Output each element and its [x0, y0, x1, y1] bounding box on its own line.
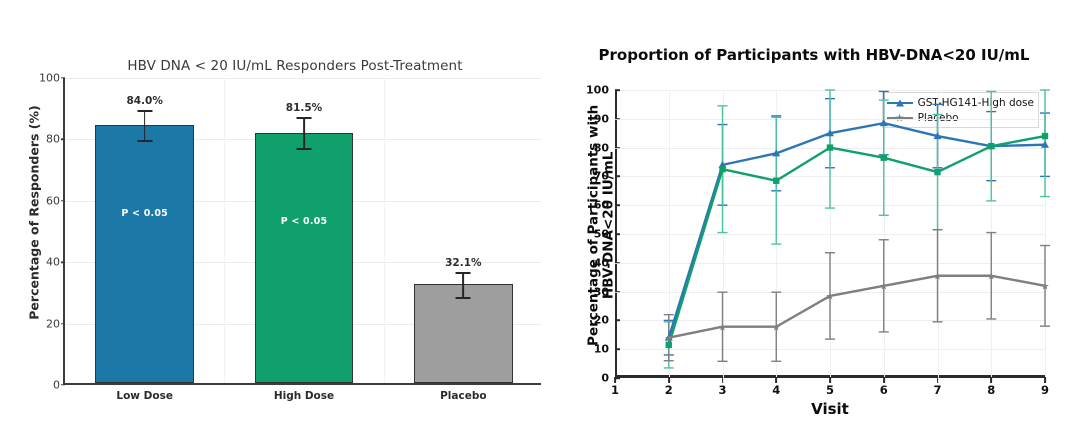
bar-chart-error-bar-cap — [296, 117, 311, 119]
line-chart-data-point[interactable] — [988, 143, 994, 149]
line-chart-y-tick-label: 80 — [594, 141, 609, 154]
bar-chart-bar[interactable] — [414, 284, 513, 383]
bar-chart-pvalue-annotation: P < 0.05 — [234, 216, 374, 227]
line-chart-y-tick-label: 40 — [594, 256, 609, 269]
line-chart-data-point[interactable]: ★ — [772, 322, 781, 333]
line-chart-x-axis-label: Visit — [615, 400, 1045, 418]
line-chart-data-point[interactable]: ★ — [664, 333, 673, 344]
line-chart-data-point[interactable]: ★ — [987, 271, 996, 282]
bar-chart-plot-area: 02040608010084.0%P < 0.05Low Dose81.5%P … — [63, 78, 541, 385]
bar-chart-error-bar-cap — [137, 110, 152, 112]
bar-chart-error-bar — [144, 110, 146, 141]
bar-chart-y-tick-label: 0 — [53, 379, 60, 392]
line-chart-series-line[interactable] — [669, 123, 1045, 338]
line-chart-data-point[interactable] — [773, 178, 779, 184]
line-chart-panel: Proportion of Participants with HBV-DNA<… — [545, 0, 1073, 435]
bar-chart-title: HBV DNA < 20 IU/mL Responders Post-Treat… — [60, 58, 530, 74]
bar-chart-bar-group[interactable]: 32.1%Placebo — [414, 76, 513, 383]
line-chart-data-point[interactable] — [1042, 133, 1048, 139]
bar-chart-error-bar-cap — [456, 272, 471, 274]
bar-chart-x-tick-label: Low Dose — [65, 390, 225, 402]
line-chart-plot-area: Visit GST-HG141-High dose★Placebo 010203… — [615, 90, 1045, 378]
line-chart-data-point[interactable] — [827, 144, 833, 150]
bar-chart-y-tick-label: 60 — [46, 194, 60, 207]
bar-chart-y-tick-label: 40 — [46, 256, 60, 269]
bar-chart-y-tick-label: 100 — [39, 72, 60, 85]
line-chart-x-tick-label: 4 — [772, 383, 780, 397]
line-chart-x-tick-label: 3 — [718, 383, 726, 397]
bar-chart-y-tick-mark — [61, 261, 65, 262]
bar-chart-y-tick-mark — [61, 139, 65, 140]
line-chart-y-tick-label: 50 — [594, 228, 609, 241]
bar-chart-error-bar-cap — [137, 140, 152, 142]
line-chart-data-point[interactable]: ★ — [933, 271, 942, 282]
bar-chart-bar[interactable] — [95, 125, 194, 383]
bar-chart-error-bar — [303, 117, 305, 148]
line-chart-data-point[interactable]: ★ — [826, 292, 835, 303]
bar-chart-y-tick-mark — [61, 77, 65, 78]
bar-chart-error-bar — [462, 272, 464, 297]
line-chart-y-tick-label: 70 — [594, 170, 609, 183]
line-chart-x-tick-label: 5 — [826, 383, 834, 397]
bar-chart-bar[interactable] — [255, 133, 354, 383]
line-chart-y-tick-label: 100 — [586, 84, 609, 97]
bar-chart-y-tick-label: 80 — [46, 133, 60, 146]
bar-chart-pvalue-annotation: P < 0.05 — [75, 208, 215, 219]
line-chart-y-tick-label: 90 — [594, 112, 609, 125]
line-chart-data-point[interactable]: ★ — [718, 322, 727, 333]
bar-chart-y-tick-mark — [61, 384, 65, 385]
line-chart-data-point[interactable]: ★ — [879, 281, 888, 292]
bar-chart-x-tick-label: High Dose — [224, 390, 384, 402]
line-chart-x-tick-label: 2 — [665, 383, 673, 397]
bar-chart-value-label: 32.1% — [393, 257, 533, 269]
bar-chart-y-axis-label: Percentage of Responders (%) — [27, 83, 42, 343]
bar-chart-y-tick-label: 20 — [46, 317, 60, 330]
bar-chart-y-tick-mark — [61, 323, 65, 324]
bar-chart-panel: HBV DNA < 20 IU/mL Responders Post-Treat… — [0, 0, 545, 435]
bar-chart-x-tick-label: Placebo — [383, 390, 543, 402]
line-chart-x-tick-label: 9 — [1041, 383, 1049, 397]
bar-chart-value-label: 84.0% — [75, 95, 215, 107]
bar-chart-y-tick-mark — [61, 200, 65, 201]
bar-chart-bar-group[interactable]: 84.0%P < 0.05Low Dose — [95, 76, 194, 383]
line-chart-x-tick-label: 1 — [611, 383, 619, 397]
line-chart-y-tick-label: 10 — [594, 343, 609, 356]
line-chart-x-tick-label: 8 — [987, 383, 995, 397]
line-chart-y-tick-label: 60 — [594, 199, 609, 212]
line-chart-series-svg: ★★★★★★★★ — [615, 90, 1045, 378]
line-chart-y-tick-label: 20 — [594, 314, 609, 327]
bar-chart-error-bar-cap — [296, 148, 311, 150]
bar-chart-gridline-vertical — [224, 78, 225, 383]
line-chart-y-tick-label: 30 — [594, 285, 609, 298]
bar-chart-bar-group[interactable]: 81.5%P < 0.05High Dose — [255, 76, 354, 383]
line-chart-y-tick-label: 0 — [601, 372, 609, 385]
line-chart-x-tick-label: 7 — [933, 383, 941, 397]
line-chart-data-point[interactable]: ★ — [1041, 281, 1050, 292]
bar-chart-gridline-vertical — [384, 78, 385, 383]
bar-chart-value-label: 81.5% — [234, 102, 374, 114]
line-chart-data-point[interactable] — [934, 169, 940, 175]
line-chart-title: Proportion of Participants with HBV-DNA<… — [555, 46, 1073, 64]
line-chart-data-point[interactable] — [881, 154, 887, 160]
line-chart-x-tick-label: 6 — [880, 383, 888, 397]
line-chart-data-point[interactable] — [719, 166, 725, 172]
bar-chart-error-bar-cap — [456, 297, 471, 299]
